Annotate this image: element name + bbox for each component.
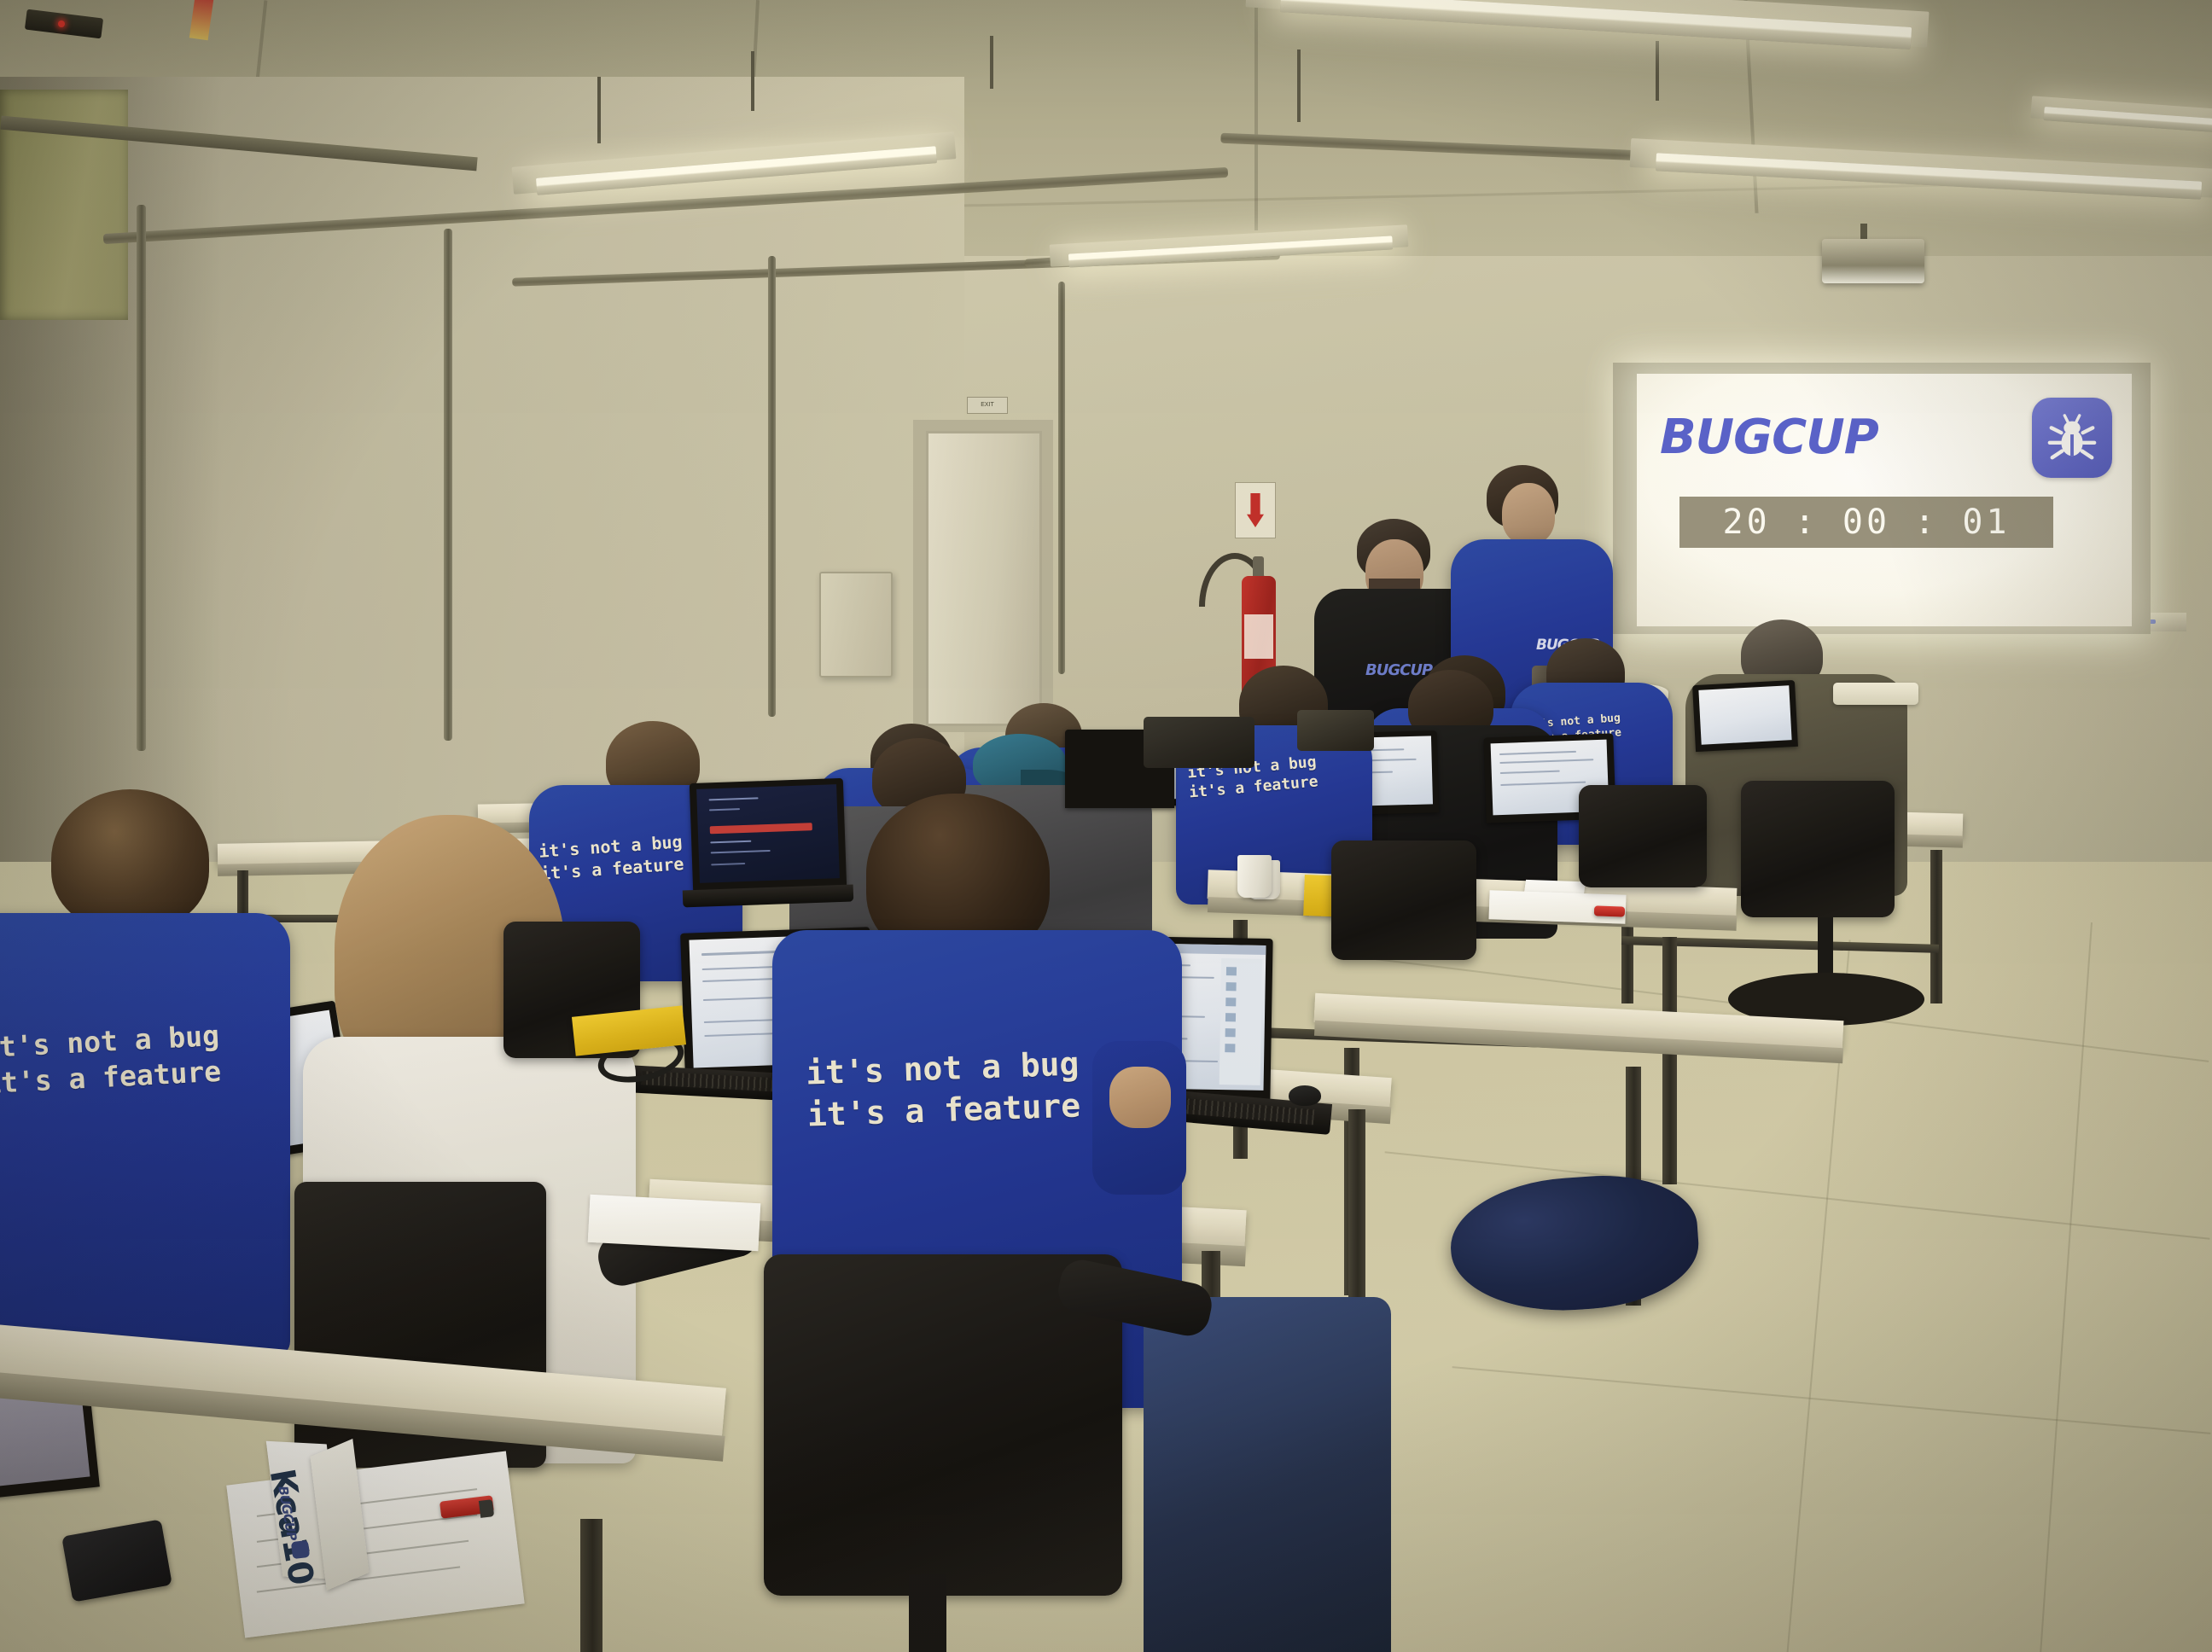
- sensor-led-icon: [58, 20, 65, 27]
- laptop-screen: [1698, 685, 1791, 744]
- light-hanger: [990, 36, 993, 89]
- wall-conduit: [768, 256, 776, 717]
- wall-control-box[interactable]: [819, 572, 893, 678]
- extinguisher-label: [1244, 614, 1273, 659]
- light-hanger: [751, 51, 754, 111]
- code-line-highlight: [710, 823, 812, 834]
- screen-text-line: [1500, 782, 1586, 786]
- bugcup-wordmark: BUGCUP: [1660, 414, 1878, 462]
- countdown-timer-bar: 20 : 00 : 01: [1679, 497, 2053, 548]
- screen-text-line: [1500, 771, 1560, 774]
- desk-leg: [1930, 850, 1942, 1003]
- ceiling-projector: [1822, 239, 1924, 283]
- paper-cup[interactable]: [1237, 855, 1272, 898]
- usb-cap: [479, 1499, 494, 1518]
- exit-sign: EXIT: [967, 397, 1008, 414]
- fire-extinguisher-sign: [1235, 482, 1276, 538]
- light-hanger: [1297, 49, 1301, 122]
- printed-sheet: [588, 1195, 761, 1251]
- usb-drive[interactable]: [1594, 905, 1625, 916]
- equipment-box: [1297, 710, 1374, 751]
- countdown-timer: 20 : 00 : 01: [1723, 503, 2011, 542]
- code-line: [709, 797, 759, 800]
- sidebar-badge: [1225, 1013, 1236, 1021]
- down-arrow-icon: [1247, 493, 1264, 527]
- screen-text-line: [1499, 759, 1593, 764]
- hair: [51, 789, 209, 930]
- equipment-box: [1144, 717, 1254, 768]
- light-hanger: [1656, 41, 1659, 101]
- head: [1502, 483, 1555, 544]
- office-chair-back[interactable]: [1331, 841, 1476, 960]
- code-line: [711, 863, 745, 865]
- screen-text-line: [1499, 751, 1576, 755]
- hand: [1109, 1067, 1171, 1128]
- sidebar-badge: [1226, 982, 1237, 991]
- desk-leg: [1348, 1109, 1365, 1306]
- snack-tray[interactable]: [1833, 683, 1918, 705]
- screen-sidebar: [1220, 958, 1263, 1085]
- staff-shirt-logo: BUGCUP: [1365, 661, 1432, 679]
- laptop-screen-code-editor: [696, 784, 840, 883]
- tshirt-slogan: it's not a bug it's a feature: [0, 1018, 222, 1102]
- office-chair-back[interactable]: [1579, 785, 1707, 887]
- wall-conduit: [137, 205, 146, 751]
- bug-icon-badge: [2032, 398, 2112, 478]
- desk-leg: [1662, 937, 1677, 1184]
- code-line: [711, 850, 771, 853]
- bug-icon: [2046, 411, 2098, 464]
- screen-text-line: [704, 1032, 783, 1037]
- chair-post: [909, 1574, 946, 1652]
- office-chair-back: [1741, 781, 1895, 917]
- sidebar-badge: [1225, 998, 1236, 1006]
- jeans: [1144, 1297, 1391, 1652]
- light-hanger: [597, 77, 601, 143]
- desk-leg: [580, 1519, 602, 1652]
- bugcup-logo-lockup: BUGCUP: [1660, 397, 2112, 479]
- wall-conduit: [444, 229, 452, 741]
- tshirt-slogan: it's not a bug it's a feature: [805, 1043, 1080, 1135]
- classroom-photo-scene: EXIT BUGCUP: [0, 0, 2212, 1652]
- code-line: [710, 841, 751, 844]
- torso: [0, 913, 290, 1357]
- classroom-door[interactable]: [926, 431, 1042, 726]
- ceiling-seam: [1254, 0, 1258, 230]
- wall-conduit: [1058, 282, 1065, 674]
- sidebar-badge: [1225, 1028, 1236, 1037]
- tent-card-bug-icon: [291, 1540, 310, 1559]
- computer-mouse[interactable]: [1289, 1085, 1321, 1106]
- code-line: [709, 808, 740, 811]
- sidebar-badge: [1226, 967, 1237, 975]
- sidebar-badge: [1225, 1044, 1235, 1052]
